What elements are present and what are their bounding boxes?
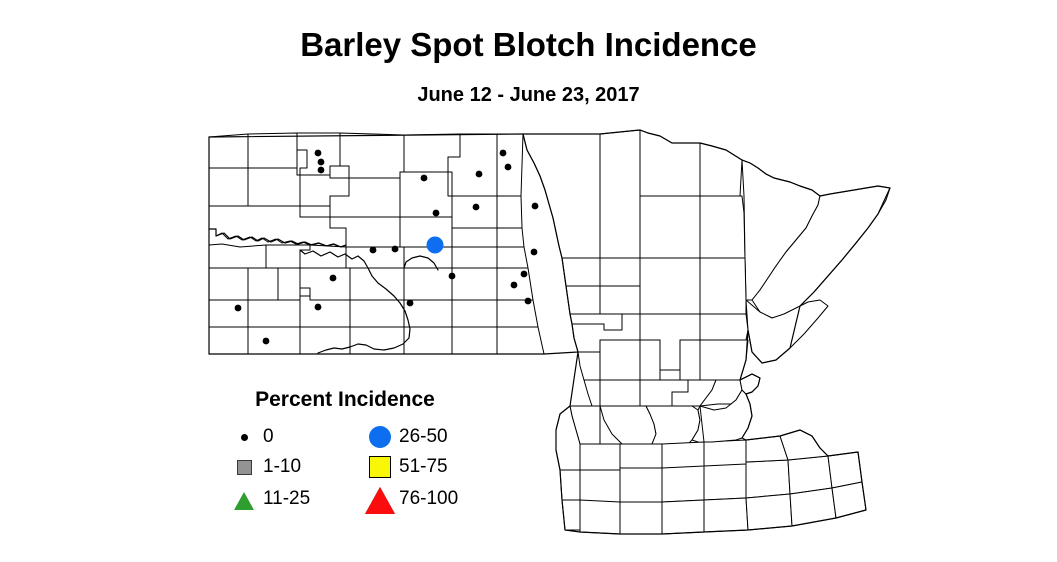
map-point-0 xyxy=(263,338,270,345)
map-point-0 xyxy=(370,247,377,254)
legend-item-76-100[interactable]: 76-100 xyxy=(365,482,458,516)
legend-item-26-50[interactable]: 26-50 xyxy=(365,422,458,452)
legend-column-left: 0 1-10 11-25 xyxy=(229,422,310,516)
map-point-0 xyxy=(500,150,507,157)
black-dot-icon xyxy=(229,422,259,452)
legend: Percent Incidence 0 1-10 11-25 26-50 xyxy=(225,388,535,528)
legend-label-1-10: 1-10 xyxy=(263,456,301,478)
map-point-0 xyxy=(392,246,399,253)
map-point-0 xyxy=(407,300,414,307)
minnesota-counties xyxy=(523,130,890,534)
map-point-0 xyxy=(433,210,440,217)
map-point-0 xyxy=(330,275,337,282)
green-triangle-icon xyxy=(229,484,259,514)
map-point-0 xyxy=(421,175,428,182)
legend-item-1-10[interactable]: 1-10 xyxy=(229,452,310,482)
map-point-26-50 xyxy=(427,237,444,254)
legend-label-11-25: 11-25 xyxy=(263,488,310,510)
legend-item-0[interactable]: 0 xyxy=(229,422,310,452)
legend-label-51-75: 51-75 xyxy=(399,456,448,478)
legend-label-76-100: 76-100 xyxy=(399,488,458,510)
map-page: Barley Spot Blotch Incidence June 12 - J… xyxy=(0,0,1057,562)
map-point-0 xyxy=(315,150,322,157)
map-point-0 xyxy=(521,271,528,278)
legend-item-11-25[interactable]: 11-25 xyxy=(229,482,310,516)
map-point-0 xyxy=(318,167,325,174)
gray-square-icon xyxy=(229,452,259,482)
legend-column-right: 26-50 51-75 76-100 xyxy=(365,422,458,516)
legend-item-51-75[interactable]: 51-75 xyxy=(365,452,458,482)
north-dakota-counties xyxy=(209,133,544,354)
map-point-0 xyxy=(315,304,322,311)
map-point-0 xyxy=(318,159,325,166)
legend-label-0: 0 xyxy=(263,426,274,448)
map-point-0 xyxy=(473,204,480,211)
map-point-0 xyxy=(532,203,539,210)
red-triangle-icon xyxy=(365,484,395,514)
map-point-0 xyxy=(235,305,242,312)
map-point-0 xyxy=(531,249,538,256)
blue-circle-icon xyxy=(365,422,395,452)
map-point-0 xyxy=(511,282,518,289)
legend-label-26-50: 26-50 xyxy=(399,426,448,448)
map-point-0 xyxy=(505,164,512,171)
yellow-square-icon xyxy=(365,452,395,482)
legend-title: Percent Incidence xyxy=(225,388,465,412)
map-point-0 xyxy=(525,298,532,305)
map-point-0 xyxy=(476,171,483,178)
map-point-0 xyxy=(449,273,456,280)
